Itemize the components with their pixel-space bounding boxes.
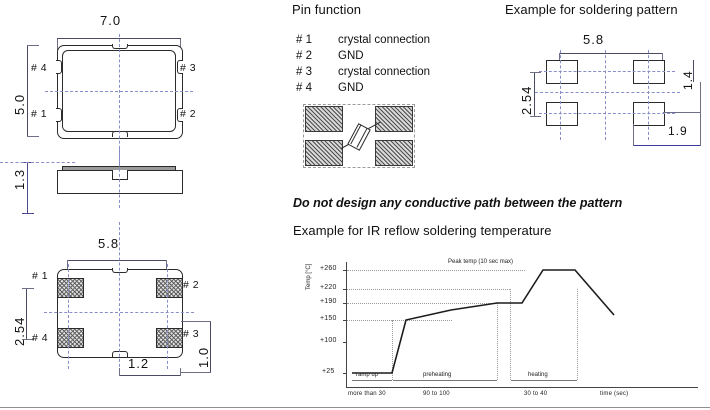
pin-function-row-1-pin: # 1 bbox=[296, 34, 312, 46]
bottom-view-group: 5.8 2.54 # 1 # 2 # 4 # 3 1.2 1 bbox=[0, 228, 250, 398]
notch-top bbox=[112, 44, 128, 49]
bottom-pad-1 bbox=[57, 278, 84, 298]
solder-pad-top-right bbox=[633, 60, 665, 84]
sp-ext-254-b bbox=[530, 116, 541, 117]
sp-dim-line-14 bbox=[693, 60, 694, 82]
dim-ext-12-l bbox=[119, 368, 120, 376]
bottom-view-pin-1: # 1 bbox=[32, 270, 48, 282]
dim-ext-bot bbox=[27, 136, 39, 137]
conductive-path-warning: Do not design any conductive path betwee… bbox=[293, 196, 622, 210]
top-view-pin-3: # 3 bbox=[180, 62, 196, 74]
solder-pad-bottom-left bbox=[546, 102, 578, 126]
chart-ytick-150: +150 bbox=[320, 315, 337, 322]
bottom-view-pin-4: # 4 bbox=[32, 332, 48, 344]
dim-ext-pitch-t bbox=[22, 288, 34, 289]
pad-centerline-right bbox=[167, 264, 168, 369]
sp-centerline-v-center bbox=[605, 50, 606, 140]
sp-centerline-v-right bbox=[648, 50, 649, 140]
chart-phase-line-heat bbox=[511, 380, 577, 381]
chart-xtick-preheating: 90 to 100 bbox=[423, 391, 450, 397]
top-view-width-dim: 7.0 bbox=[100, 13, 121, 28]
chart-phase-label-preheating: preheating bbox=[423, 372, 451, 378]
dim-line-10 bbox=[210, 321, 211, 373]
pin-function-row-3-fn: crystal connection bbox=[338, 66, 430, 78]
sp-dim-line-254 bbox=[534, 72, 535, 117]
chart-ytick-25: +25 bbox=[322, 368, 334, 375]
soldering-pattern-group: Example for soldering pattern 5.8 2.54 1… bbox=[505, 2, 710, 162]
bottom-pad-2 bbox=[156, 278, 183, 298]
soldering-pattern-title: Example for soldering pattern bbox=[505, 2, 678, 17]
chart-phase-line-ramp bbox=[352, 380, 392, 381]
chart-ytick-190: +190 bbox=[320, 298, 337, 305]
top-view-height-dim: 5.0 bbox=[12, 94, 27, 115]
sp-ext-19-l bbox=[633, 124, 634, 146]
sp-dim-line-19 bbox=[633, 145, 701, 146]
crystal-pad-top-left bbox=[305, 106, 343, 132]
sp-ext-254-t bbox=[530, 72, 541, 73]
page-footer-rule bbox=[0, 407, 710, 408]
dim-ext-10-t bbox=[181, 321, 211, 322]
centerline-vertical-top bbox=[119, 34, 120, 164]
notch-left-lower bbox=[56, 108, 62, 122]
dim-ext-10-b bbox=[181, 372, 211, 373]
chart-ytick-220: +220 bbox=[320, 284, 337, 291]
bottom-view-width-dim: 5.8 bbox=[98, 236, 119, 251]
notch-left-upper bbox=[56, 60, 62, 74]
crystal-pad-bottom-right bbox=[375, 140, 413, 166]
bottom-centerline-v bbox=[119, 222, 120, 372]
bottom-notch-bottom bbox=[112, 351, 128, 357]
crystal-pad-top-right bbox=[375, 106, 413, 132]
soldering-pitch-dim: 2.54 bbox=[519, 86, 534, 115]
pin-function-group: Pin function # 1 crystal connection # 2 … bbox=[292, 2, 492, 92]
sp-ext-19-top-tie bbox=[663, 112, 701, 113]
side-view-thickness-dim: 1.3 bbox=[12, 169, 27, 190]
pin-function-row-2-fn: GND bbox=[338, 50, 364, 62]
dim-line-12 bbox=[119, 375, 181, 376]
pin-function-row-4-fn: GND bbox=[338, 82, 364, 94]
notch-bottom bbox=[112, 131, 128, 137]
pin-function-row-4-pin: # 4 bbox=[296, 82, 312, 94]
centerline-vertical-side bbox=[119, 148, 120, 208]
sp-ext-19-r bbox=[700, 82, 701, 146]
bottom-view-pitch-dim: 2.54 bbox=[12, 317, 27, 346]
sp-centerline-v-left bbox=[560, 50, 561, 140]
top-view-pin-2: # 2 bbox=[180, 108, 196, 120]
dim-line-pitch bbox=[26, 288, 27, 340]
pin-function-row-2-pin: # 2 bbox=[296, 50, 312, 62]
top-view-pin-1: # 1 bbox=[31, 108, 47, 120]
chart-profile-curve bbox=[346, 258, 706, 393]
dim-ext-top bbox=[27, 45, 39, 46]
soldering-pad-offset-dim: 1.9 bbox=[668, 124, 688, 138]
bottom-view-pin-2: # 2 bbox=[183, 279, 199, 291]
chart-y-axis-title: Temp [°C] bbox=[306, 264, 312, 290]
pin-function-row-3-pin: # 3 bbox=[296, 66, 312, 78]
reflow-section-title: Example for IR reflow soldering temperat… bbox=[293, 223, 552, 238]
bottom-pad-3 bbox=[156, 328, 183, 348]
dim-line-height bbox=[27, 45, 28, 137]
chart-ytick-260: +260 bbox=[320, 265, 337, 272]
pad-centerline-left bbox=[68, 264, 69, 369]
bottom-pad-4 bbox=[57, 328, 84, 348]
chart-xtick-ramp-up: more than 30 bbox=[348, 391, 386, 397]
bottom-pad-height-dim: 1.0 bbox=[196, 347, 211, 368]
top-view-pin-4: # 4 bbox=[31, 62, 47, 74]
bottom-notch-top bbox=[112, 268, 128, 273]
bottom-view-pin-3: # 3 bbox=[183, 328, 199, 340]
chart-x-axis-title: time (sec) bbox=[600, 391, 628, 397]
pin-function-row-1-fn: crystal connection bbox=[338, 34, 430, 46]
side-view-ref-line bbox=[0, 162, 75, 163]
chart-phase-label-heating: heating bbox=[528, 372, 548, 378]
dim-line-bw bbox=[67, 260, 167, 261]
top-view-group: 7.0 5.0 # 4 # 3 # 1 # 2 bbox=[0, 0, 250, 165]
pin-function-title: Pin function bbox=[292, 2, 361, 17]
chart-xtick-heating: 30 to 40 bbox=[524, 391, 547, 397]
crystal-pad-bottom-left bbox=[305, 140, 343, 166]
chart-peak-annotation: Peak temp (10 sec max) bbox=[448, 259, 513, 265]
sp-centerline-h bbox=[535, 92, 680, 93]
package-side-center-block bbox=[112, 170, 128, 180]
chart-ytick-100: +100 bbox=[320, 337, 337, 344]
soldering-width-dim: 5.8 bbox=[583, 32, 604, 47]
chart-phase-label-ramp-up: ramp up bbox=[356, 372, 378, 378]
crystal-connection-diagram bbox=[303, 104, 415, 168]
solder-pad-bottom-right bbox=[633, 102, 665, 126]
reflow-temperature-chart: Temp [°C] +260 +220 +190 +150 +100 +25 P bbox=[300, 258, 705, 403]
solder-pad-top-left bbox=[546, 60, 578, 84]
bottom-pad-width-dim: 1.2 bbox=[128, 356, 149, 371]
side-view-group: 1.3 bbox=[0, 148, 250, 218]
datasheet-page: 7.0 5.0 # 4 # 3 # 1 # 2 1.3 bbox=[0, 0, 710, 410]
dim-line-thickness bbox=[27, 162, 28, 214]
chart-phase-line-preheat bbox=[393, 380, 497, 381]
dim-ext-thick-bot bbox=[22, 213, 34, 214]
